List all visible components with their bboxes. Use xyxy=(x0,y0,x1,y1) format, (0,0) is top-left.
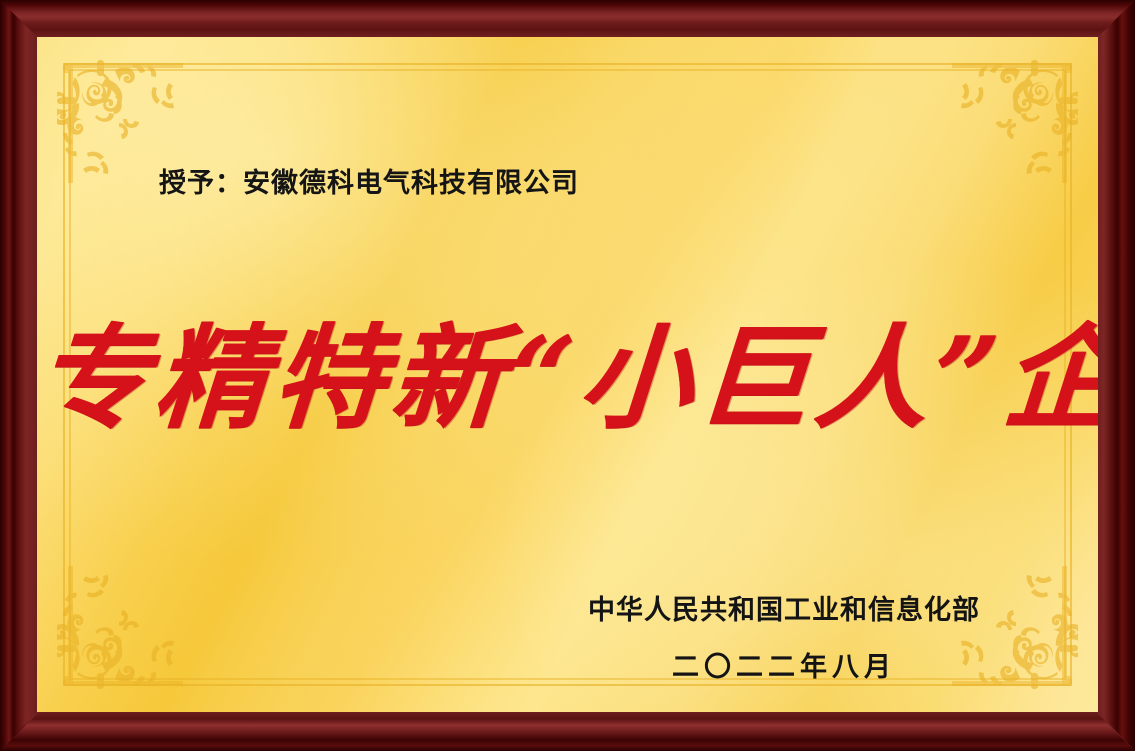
frame-band-bottom xyxy=(0,712,1135,751)
award-plaque: 授予：安徽德科电气科技有限公司 专精特新“小巨人”企业 中华人民共和国工业和信息… xyxy=(0,0,1135,751)
award-headline: 专精特新“小巨人”企业 xyxy=(37,319,1098,440)
frame-band-right xyxy=(1098,0,1135,751)
gold-plate: 授予：安徽德科电气科技有限公司 专精特新“小巨人”企业 中华人民共和国工业和信息… xyxy=(37,37,1098,712)
issue-date: 二〇二二年八月 xyxy=(588,645,980,684)
frame-band-top xyxy=(0,0,1135,37)
frame-band-left xyxy=(0,0,37,751)
issuing-authority: 中华人民共和国工业和信息化部 xyxy=(588,588,980,627)
awardee-line: 授予：安徽德科电气科技有限公司 xyxy=(159,161,579,200)
issuer-block: 中华人民共和国工业和信息化部 二〇二二年八月 xyxy=(588,588,980,684)
